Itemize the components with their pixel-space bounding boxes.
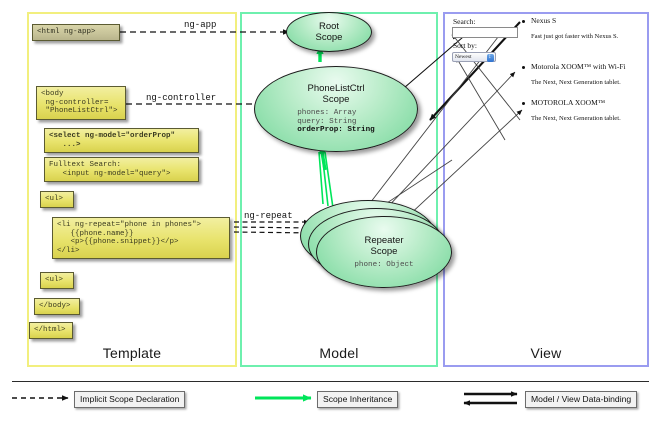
code-html-close: </html> (29, 322, 73, 339)
code-li-ng-repeat: <li ng-repeat="phone in phones"> {{phone… (52, 217, 230, 259)
panel-view-label: View (445, 345, 647, 361)
scope-repeater: Repeater Scope phone: Object (316, 216, 452, 288)
list-bullet-icon (522, 20, 525, 23)
phone-name: Nexus S (531, 16, 556, 25)
list-bullet-icon (522, 66, 525, 69)
code-fulltext-search: Fulltext Search: <input ng-model="query"… (44, 157, 199, 182)
edge-label-ng-repeat: ng-repeat (244, 211, 293, 221)
code-html-open: <html ng-app> (32, 24, 120, 41)
scope-ctrl-title-1: PhoneListCtrl (307, 83, 364, 94)
scope-ctrl-prop-phones: phones: Array (297, 109, 374, 118)
sort-by-select[interactable]: Newest (452, 52, 496, 62)
code-ul-close: <ul> (40, 272, 74, 289)
code-ul-open: <ul> (40, 191, 74, 208)
panel-model-label: Model (242, 345, 436, 361)
phone-snippet: Fast just got faster with Nexus S. (531, 33, 618, 40)
diagram-canvas: Template Model View (0, 0, 661, 425)
list-bullet-icon (522, 102, 525, 105)
code-body-open: <body ng-controller= "PhoneListCtrl"> (36, 86, 126, 120)
phone-snippet: The Next, Next Generation tablet. (531, 115, 621, 122)
legend: Implicit Scope Declaration Scope Inherit… (12, 381, 649, 416)
edge-label-ng-controller: ng-controller (146, 93, 216, 103)
sort-by-selected-value: Newest (455, 54, 472, 60)
chevron-updown-icon[interactable] (487, 54, 494, 62)
edge-label-ng-app: ng-app (184, 20, 216, 30)
scope-root-title-2: Scope (316, 32, 343, 43)
phone-snippet: The Next, Next Generation tablet. (531, 79, 621, 86)
panel-template-label: Template (29, 345, 235, 361)
scope-repeater-title-2: Scope (371, 246, 398, 257)
view-sortby-label: Sort by: (453, 41, 477, 50)
phone-name: MOTOROLA XOOM™ (531, 98, 605, 107)
scope-repeater-prop-phone: phone: Object (354, 261, 413, 270)
view-search-label: Search: (453, 17, 476, 26)
search-input[interactable] (452, 27, 518, 38)
scope-ctrl-title-2: Scope (323, 94, 350, 105)
code-select-orderprop: <select ng-model="orderProp" ...> (44, 128, 199, 153)
legend-implicit-scope-declaration: Implicit Scope Declaration (74, 391, 185, 408)
scope-phonelistctrl: PhoneListCtrl Scope phones: Array query:… (254, 66, 418, 152)
scope-repeater-title-1: Repeater (364, 235, 403, 246)
scope-root: Root Scope (286, 12, 372, 52)
scope-ctrl-prop-query: query: String (297, 118, 374, 127)
legend-model-view-databinding: Model / View Data-binding (525, 391, 637, 408)
code-body-close: </body> (34, 298, 80, 315)
scope-root-title-1: Root (319, 21, 339, 32)
phone-name: Motorola XOOM™ with Wi-Fi (531, 62, 626, 71)
legend-scope-inheritance: Scope Inheritance (317, 391, 398, 408)
scope-ctrl-prop-orderprop: orderProp: String (297, 126, 374, 134)
